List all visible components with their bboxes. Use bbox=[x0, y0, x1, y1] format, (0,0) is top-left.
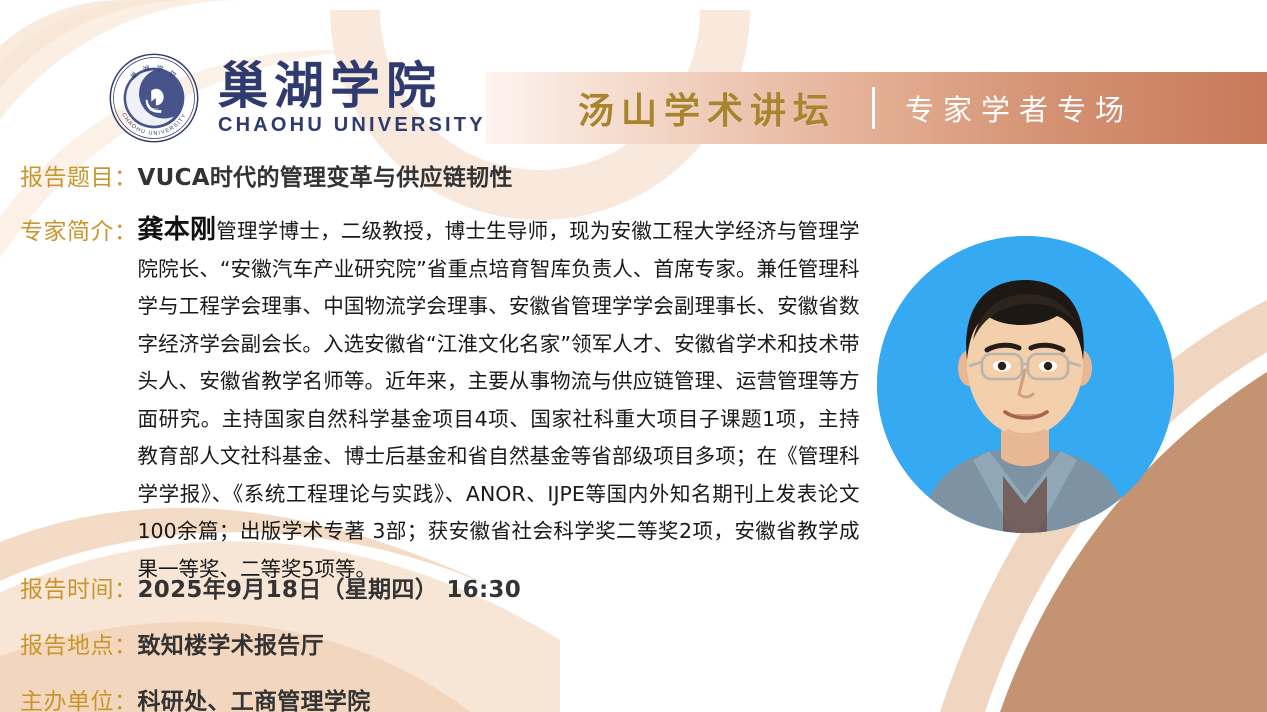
label-lecture-time: 报告时间： bbox=[20, 570, 138, 604]
speaker-name: 龚本刚 bbox=[138, 215, 217, 245]
row-lecture-place: 报告地点： 致知楼学术报告厅 bbox=[20, 626, 324, 660]
label-speaker-bio: 专家简介： bbox=[20, 212, 138, 246]
value-lecture-title: VUCA时代的管理变革与供应链韧性 bbox=[138, 158, 513, 192]
row-speaker-bio: 专家简介： 龚本刚管理学博士，二级教授，博士生导师，现为安徽工程大学经济与管理学… bbox=[20, 212, 860, 588]
row-lecture-time: 报告时间： 2025年9月18日（星期四） 16:30 bbox=[20, 570, 521, 604]
value-lecture-time: 2025年9月18日（星期四） 16:30 bbox=[138, 570, 522, 604]
value-organizer: 科研处、工商管理学院 bbox=[138, 682, 371, 712]
row-organizer: 主办单位： 科研处、工商管理学院 bbox=[20, 682, 371, 712]
label-lecture-place: 报告地点： bbox=[20, 626, 138, 660]
row-lecture-title: 报告题目： VUCA时代的管理变革与供应链韧性 bbox=[20, 158, 513, 192]
lecture-poster: 1977 巢 湖 学 院 CHAOHU UNIVERSITY 巢湖学院 CHAO… bbox=[0, 0, 1267, 712]
label-lecture-title: 报告题目： bbox=[20, 158, 138, 192]
speaker-bio-block: 龚本刚管理学博士，二级教授，博士生导师，现为安徽工程大学经济与管理学院院长、“安… bbox=[138, 212, 860, 588]
speaker-bio-text: 龚本刚管理学博士，二级教授，博士生导师，现为安徽工程大学经济与管理学院院长、“安… bbox=[138, 212, 860, 588]
label-organizer: 主办单位： bbox=[20, 682, 138, 712]
speaker-bio-body: 管理学博士，二级教授，博士生导师，现为安徽工程大学经济与管理学院院长、“安徽汽车… bbox=[138, 219, 860, 581]
portrait-illustration bbox=[877, 236, 1174, 533]
value-lecture-place: 致知楼学术报告厅 bbox=[138, 626, 324, 660]
speaker-portrait bbox=[877, 236, 1174, 533]
